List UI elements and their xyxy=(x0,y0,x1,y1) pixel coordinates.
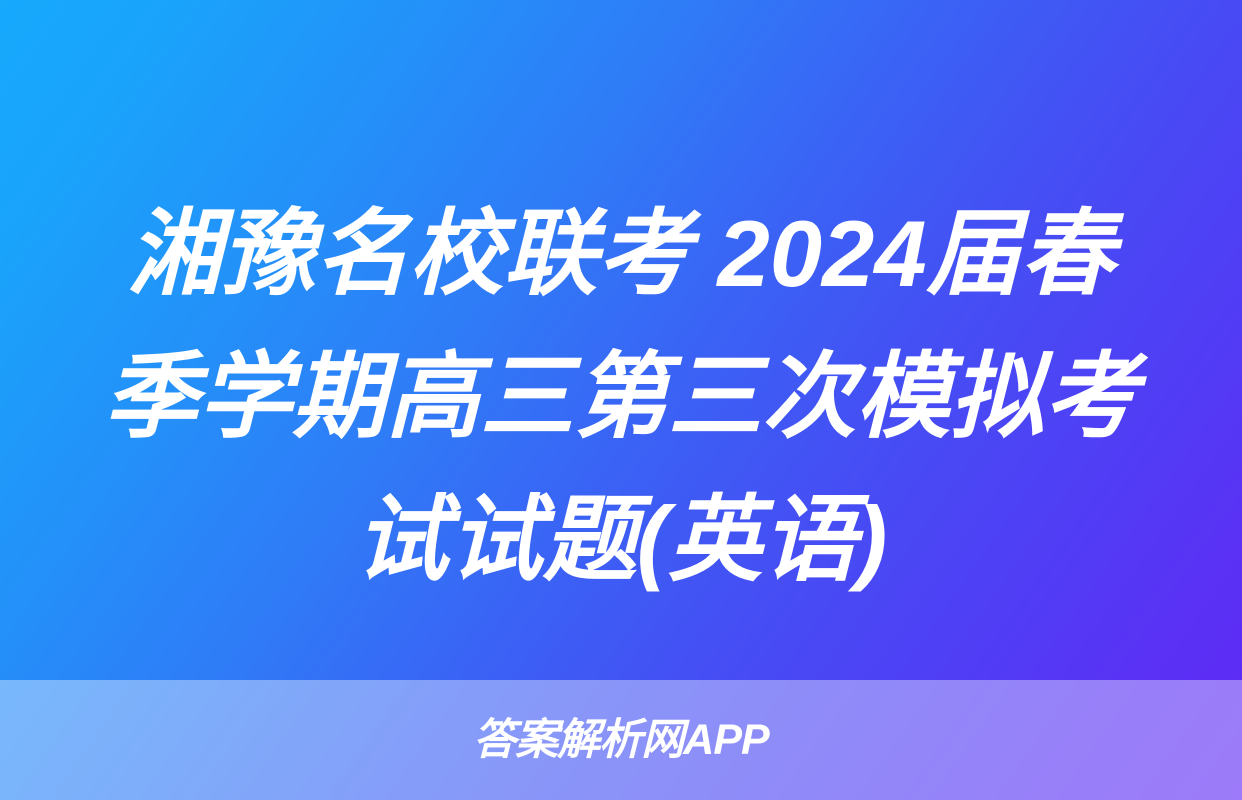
page-title: 湘豫名校联考 2024届春 季学期高三第三次模拟考 试试题(英语) xyxy=(0,182,1242,611)
exam-paper-cover: 湘豫名校联考 2024届春 季学期高三第三次模拟考 试试题(英语) 答案解析网A… xyxy=(0,0,1242,800)
app-watermark-label: 答案解析网APP xyxy=(473,719,768,762)
footer-watermark-band: 答案解析网APP xyxy=(0,680,1242,800)
title-line-1: 湘豫名校联考 2024届春 xyxy=(70,182,1172,325)
title-line-2: 季学期高三第三次模拟考 xyxy=(70,325,1172,468)
title-line-3: 试试题(英语) xyxy=(70,468,1172,611)
